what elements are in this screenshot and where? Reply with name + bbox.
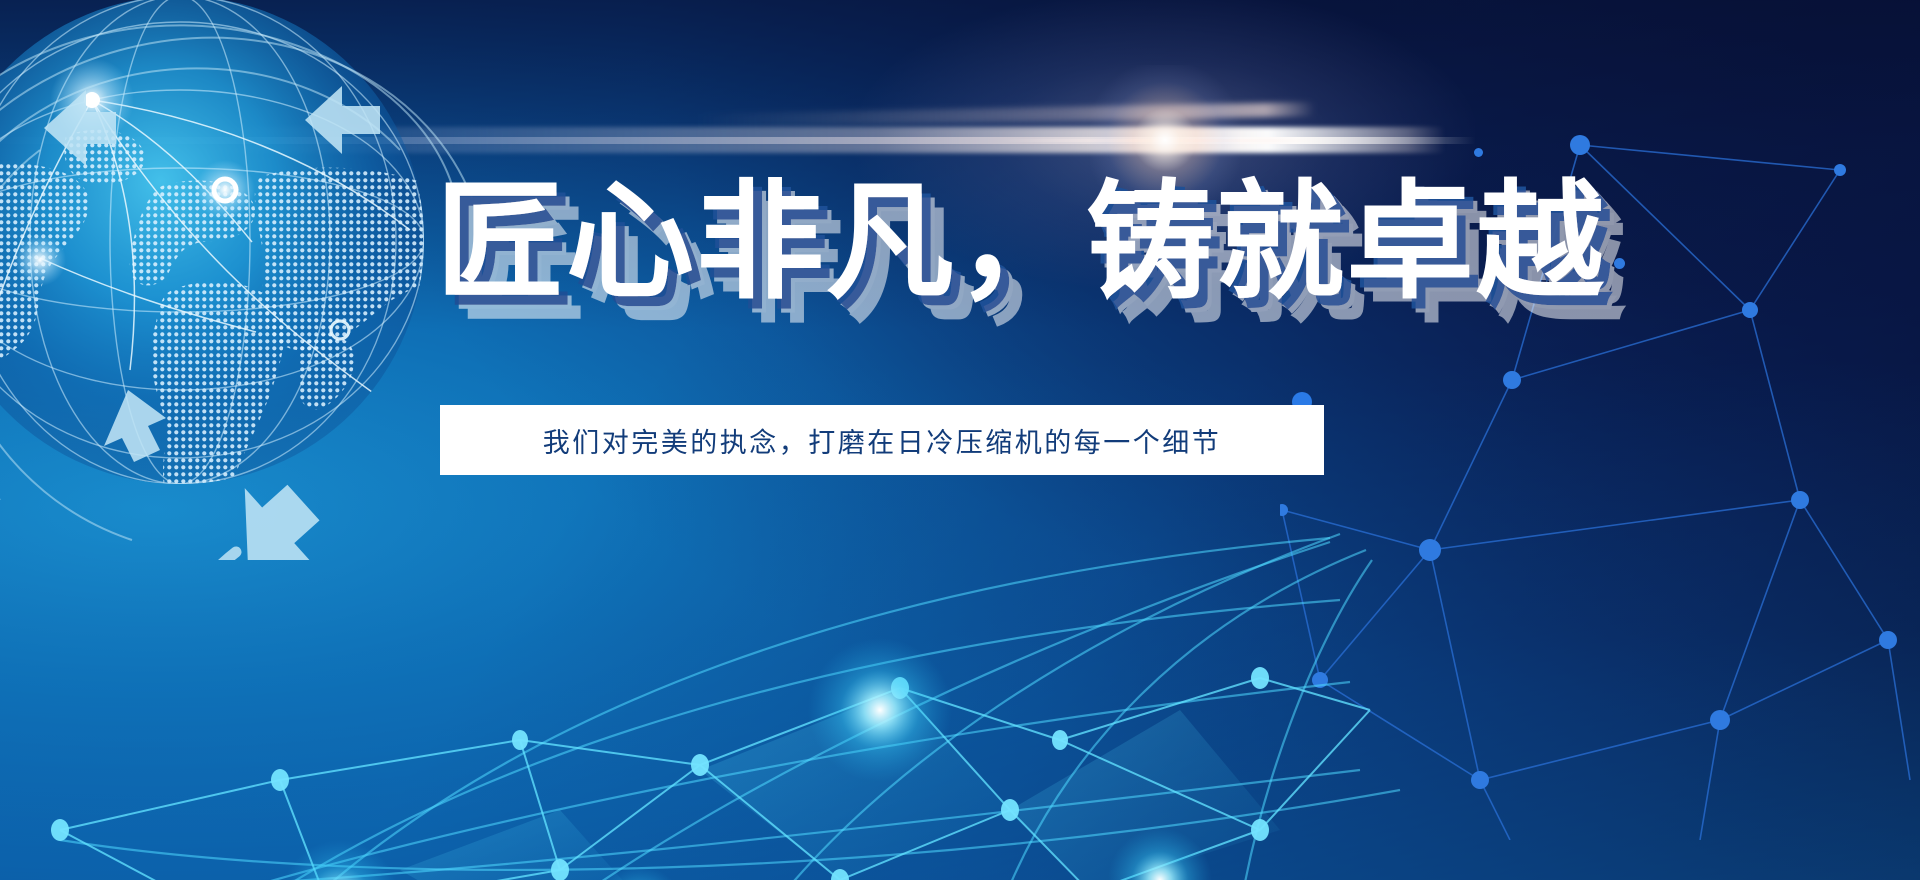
page-title-text: 匠心非凡，铸就卓越 xyxy=(436,171,1606,314)
network-mesh-bottom xyxy=(0,410,1560,880)
subtitle-text: 我们对完美的执念，打磨在日冷压缩机的每一个细节 xyxy=(543,421,1222,460)
page-title: 匠心非凡，铸就卓越 xyxy=(436,168,1356,318)
banner-stage: 匠心非凡，铸就卓越 我们对完美的执念，打磨在日冷压缩机的每一个细节 xyxy=(0,0,1920,880)
node-dot xyxy=(1614,258,1625,269)
node-dot xyxy=(1474,148,1483,157)
subtitle-bar: 我们对完美的执念，打磨在日冷压缩机的每一个细节 xyxy=(440,405,1324,475)
